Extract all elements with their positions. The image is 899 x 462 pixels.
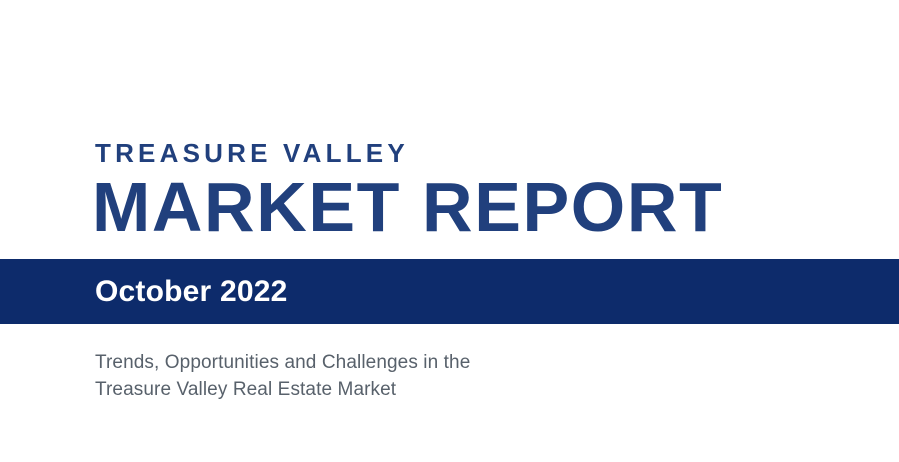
report-subtitle-line-1: Trends, Opportunities and Challenges in … (95, 349, 735, 376)
report-eyebrow-heading: TREASURE VALLEY (95, 138, 409, 168)
report-cover-page: TREASURE VALLEY MARKET REPORT October 20… (0, 0, 899, 462)
date-band: October 2022 (0, 259, 899, 324)
report-date-label: October 2022 (95, 275, 288, 309)
report-subtitle-line-2: Treasure Valley Real Estate Market (95, 376, 735, 403)
page-title: MARKET REPORT (92, 172, 723, 242)
report-subtitle: Trends, Opportunities and Challenges in … (95, 349, 735, 403)
